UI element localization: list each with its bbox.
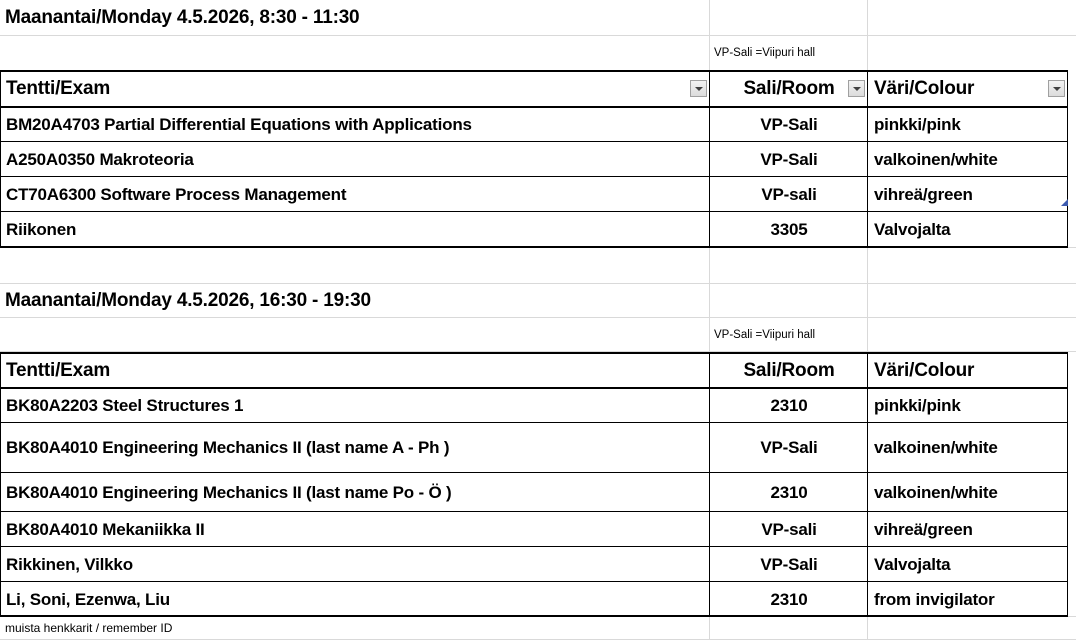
column-header-room-evening[interactable]: Sali/Room [711, 354, 867, 387]
table-row[interactable]: A250A0350 Makroteoria [1, 143, 709, 176]
spreadsheet-canvas: Maanantai/Monday 4.5.2026, 8:30 - 11:30 … [0, 0, 1076, 640]
table2-row-border-1 [0, 422, 1068, 423]
room-legend-note-evening: VP-Sali =Viipuri hall [710, 318, 867, 351]
chevron-down-icon [1053, 87, 1061, 91]
table1-row-border-3 [0, 211, 1068, 212]
chevron-down-icon [695, 87, 703, 91]
table-cell-room[interactable]: VP-sali [711, 513, 867, 546]
column-header-colour-evening[interactable]: Väri/Colour [869, 354, 1068, 387]
table-row[interactable]: Li, Soni, Ezenwa, Liu [1, 583, 709, 616]
table1-row-border-2 [0, 176, 1068, 177]
table-row[interactable]: Rikkinen, Vilkko [1, 548, 709, 581]
filter-dropdown-room-morning[interactable] [848, 80, 865, 97]
table-cell-colour[interactable]: Valvojalta [869, 213, 1068, 246]
table2-row-border-5 [0, 581, 1068, 582]
column-header-room-morning[interactable]: Sali/Room [711, 72, 867, 106]
table-cell-colour[interactable]: valkoinen/white [869, 474, 1068, 511]
footer-note: muista henkkarit / remember ID [1, 617, 709, 639]
table-cell-colour[interactable]: Valvojalta [869, 548, 1068, 581]
table1-row-border-1 [0, 141, 1068, 142]
table-cell-room[interactable]: VP-Sali [711, 108, 867, 141]
table-cell-colour[interactable]: pinkki/pink [869, 108, 1068, 141]
section-title-evening: Maanantai/Monday 4.5.2026, 16:30 - 19:30 [0, 284, 709, 317]
table-row[interactable]: Riikonen [1, 213, 709, 246]
table2-left-border [0, 352, 1, 616]
table-cell-room[interactable]: 2310 [711, 389, 867, 422]
table1-right-border [1067, 70, 1068, 248]
table-row[interactable]: CT70A6300 Software Process Management [1, 178, 709, 211]
table2-row-border-2 [0, 472, 1068, 473]
filter-dropdown-exam-morning[interactable] [690, 80, 707, 97]
table-row[interactable]: BK80A2203 Steel Structures 1 [1, 389, 709, 422]
table2-row-border-4 [0, 546, 1068, 547]
table-cell-colour[interactable]: vihreä/green [869, 178, 1068, 211]
table-cell-room[interactable]: VP-Sali [711, 424, 867, 472]
column-header-colour-morning[interactable]: Väri/Colour [869, 72, 1068, 106]
table-row[interactable]: BK80A4010 Engineering Mechanics II (last… [1, 474, 709, 511]
table-cell-room[interactable]: 2310 [711, 474, 867, 511]
table-cell-colour[interactable]: valkoinen/white [869, 143, 1068, 176]
table-cell-colour[interactable]: valkoinen/white [869, 424, 1068, 472]
table-cell-room[interactable]: 2310 [711, 583, 867, 616]
filter-dropdown-colour-morning[interactable] [1048, 80, 1065, 97]
table-cell-colour[interactable]: from invigilator [869, 583, 1068, 616]
section-title-morning: Maanantai/Monday 4.5.2026, 8:30 - 11:30 [0, 0, 709, 35]
table-row[interactable]: BM20A4703 Partial Differential Equations… [1, 108, 709, 141]
table-row[interactable]: BK80A4010 Engineering Mechanics II (last… [1, 424, 709, 472]
chevron-down-icon [853, 87, 861, 91]
table1-col-divider-1 [709, 70, 710, 248]
table2-row-border-3 [0, 511, 1068, 512]
table1-left-border [0, 70, 1, 248]
gridline-horizontal-4 [0, 317, 1076, 318]
table-resize-handle-icon[interactable] [1061, 199, 1068, 206]
table2-right-border [1067, 352, 1068, 616]
table1-bottom-border [0, 246, 1068, 248]
room-legend-note-morning: VP-Sali =Viipuri hall [710, 36, 867, 69]
table2-col-divider-2 [867, 352, 868, 616]
table-cell-room[interactable]: VP-sali [711, 178, 867, 211]
table-row[interactable]: BK80A4010 Mekaniikka II [1, 513, 709, 546]
table-cell-colour[interactable]: vihreä/green [869, 513, 1068, 546]
table1-col-divider-2 [867, 70, 868, 248]
table2-col-divider-1 [709, 352, 710, 616]
table-cell-room[interactable]: VP-Sali [711, 548, 867, 581]
table-cell-room[interactable]: VP-Sali [711, 143, 867, 176]
table-cell-room[interactable]: 3305 [711, 213, 867, 246]
table-cell-colour[interactable]: pinkki/pink [869, 389, 1068, 422]
gridline-horizontal-1 [0, 35, 1076, 36]
column-header-exam-evening[interactable]: Tentti/Exam [1, 354, 709, 387]
column-header-exam-morning[interactable]: Tentti/Exam [1, 72, 709, 106]
